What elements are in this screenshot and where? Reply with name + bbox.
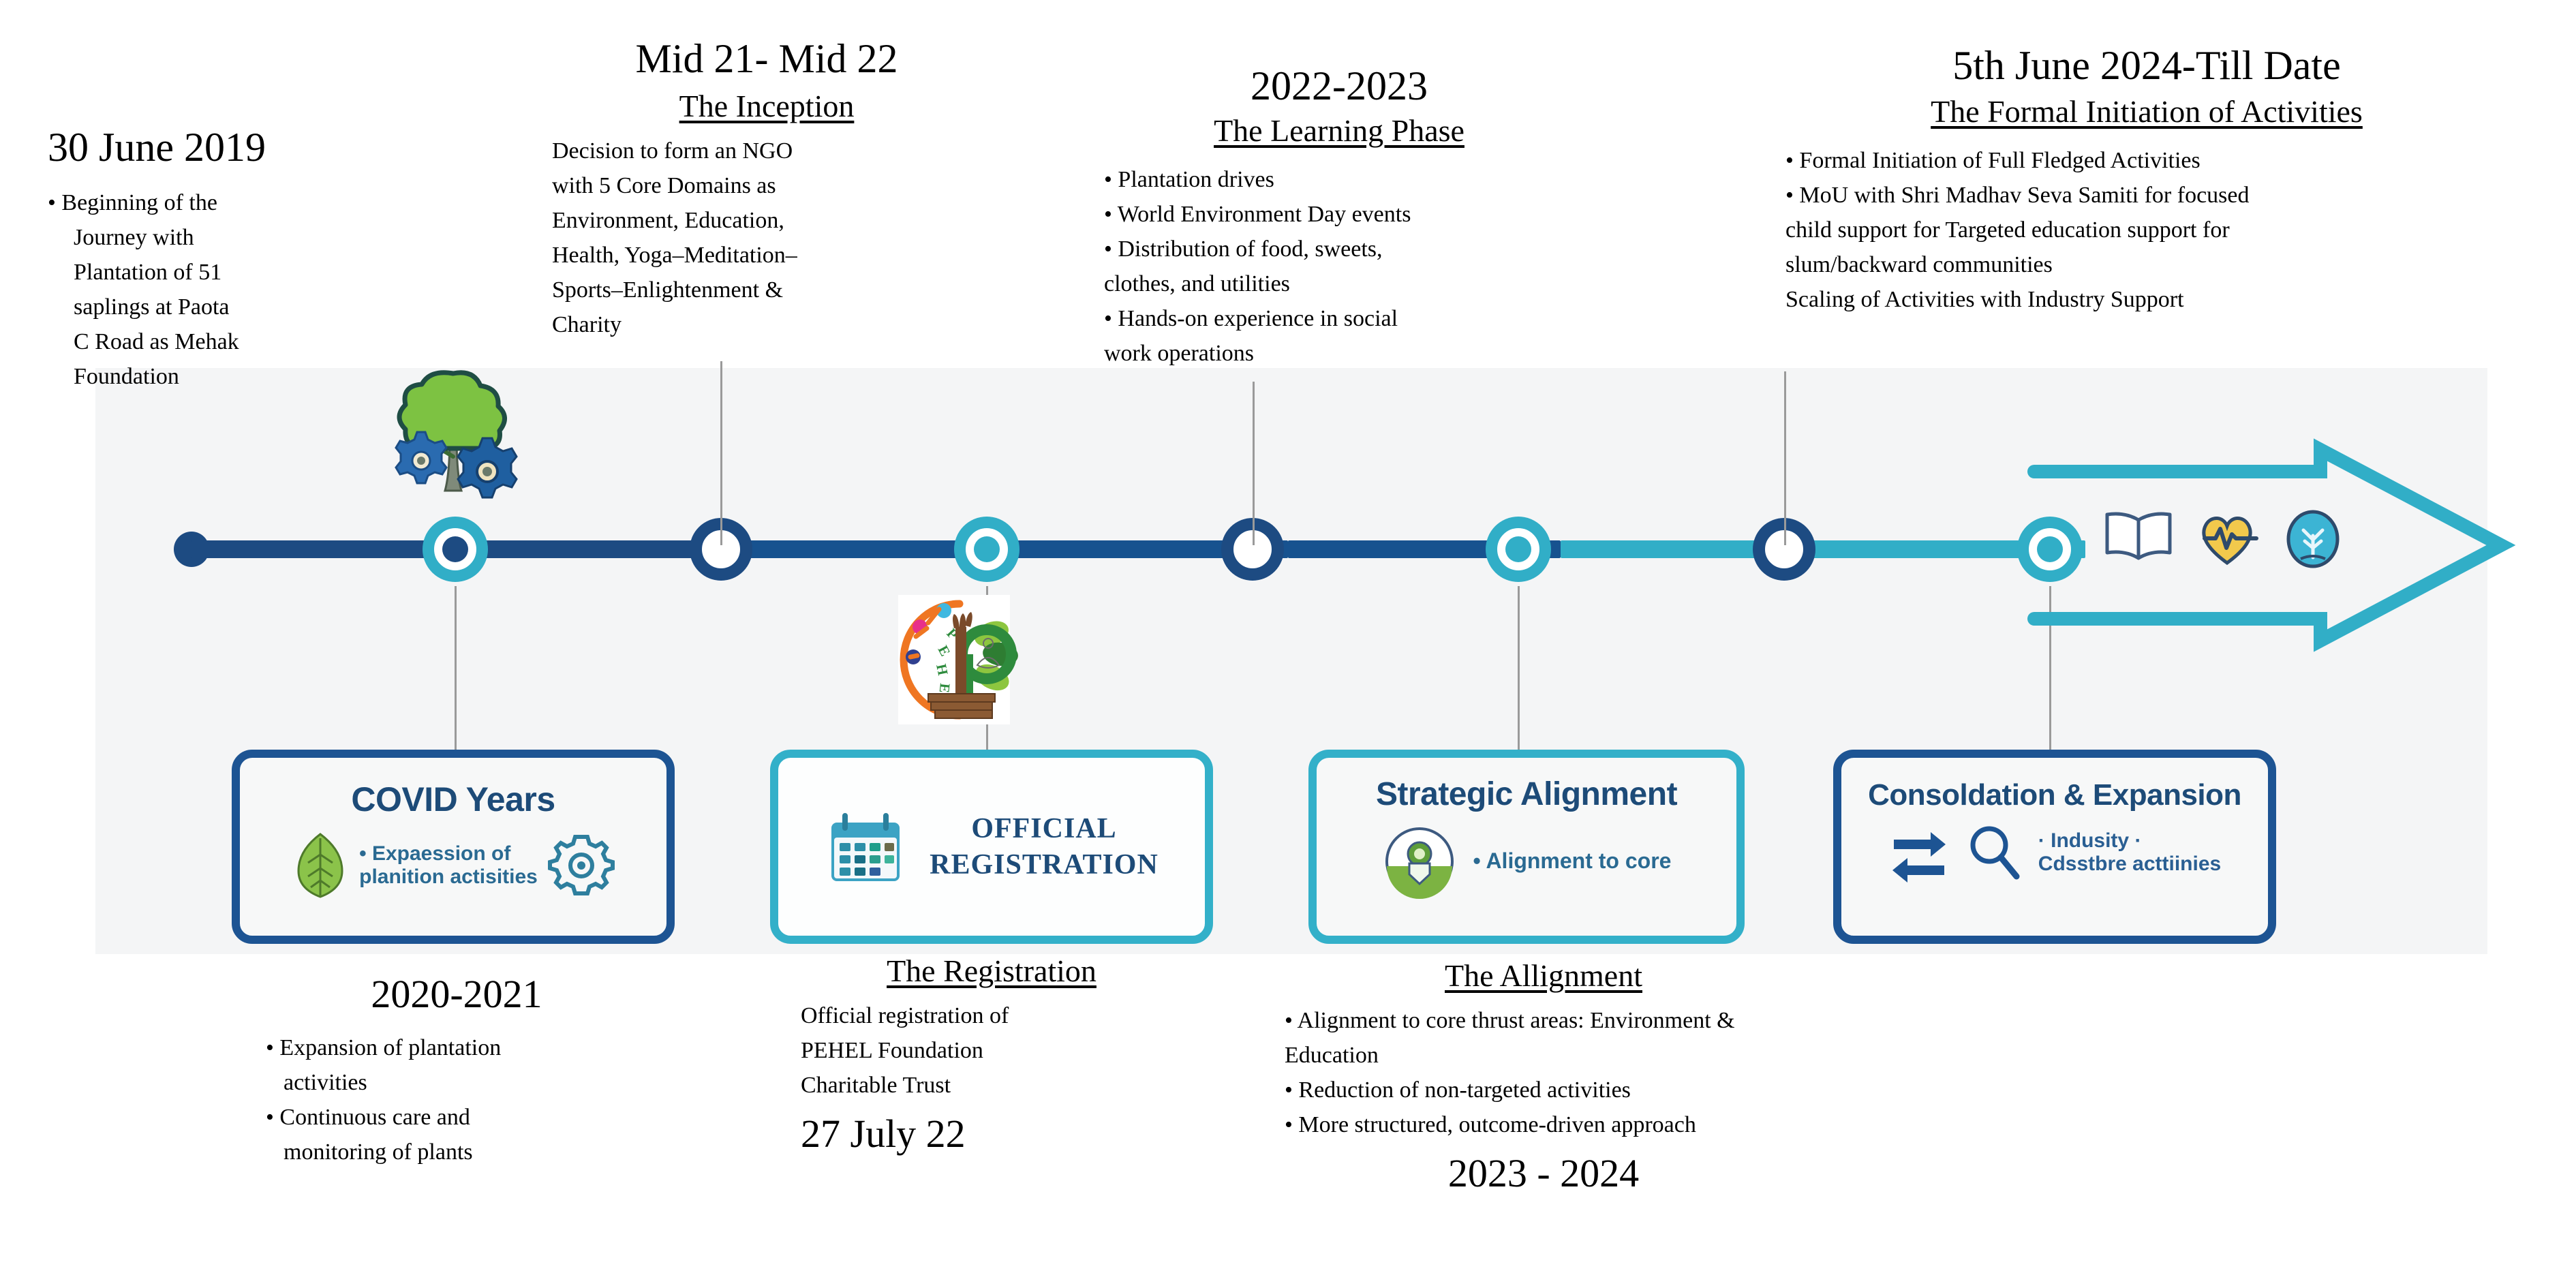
era-bullets-2019: • Beginning of the Journey with Plantati… <box>48 185 402 394</box>
card-note-covid: • Expaession of planition actisities <box>359 842 538 888</box>
era-heading-allignment: The Allignment <box>1285 957 1803 994</box>
era-bullets-formal: • Formal Initiation of Full Fledged Acti… <box>1785 143 2521 317</box>
era-year-allignment: 2023 - 2024 <box>1285 1150 1803 1196</box>
era-date-2019: 30 June 2019 <box>48 126 402 169</box>
gear-icon <box>550 834 613 897</box>
globe-tree-icon <box>2283 510 2343 568</box>
card-title-alignment: Strategic Alignment <box>1317 776 1736 813</box>
forward-arrow <box>2027 443 2508 647</box>
card-title-registration: OFFICIAL REGISTRATION <box>930 811 1159 883</box>
stem-down-covid <box>455 586 457 756</box>
card-title-consolidation: Consoldation & Expansion <box>1841 778 2268 812</box>
calendar-icon <box>825 806 906 888</box>
stem-up-inception <box>720 361 722 545</box>
svg-text:E: E <box>936 682 953 693</box>
card-consolidation-expansion[interactable]: Consoldation & Expansion · Indusity · Cd… <box>1833 750 2276 944</box>
era-year-2020-2021: 2020-2021 <box>232 971 681 1017</box>
era-date-formal: 5th June 2024-Till Date <box>1785 44 2508 87</box>
era-block-learning: 2022-2023 The Learning Phase • Plantatio… <box>1104 65 1595 371</box>
era-block-2019: 30 June 2019 • Beginning of the Journey … <box>48 126 402 394</box>
era-block-2020-2021: 2020-2021 • Expansion of plantation acti… <box>232 971 681 1169</box>
era-subtitle-formal: The Formal Initiation of Activities <box>1785 95 2508 128</box>
tree-gears-icon <box>368 354 538 511</box>
exchange-arrows-icon <box>1888 822 1950 883</box>
timeline-node-5[interactable] <box>1486 517 1551 582</box>
card-title-covid: COVID Years <box>240 780 666 819</box>
timeline-node-1[interactable] <box>423 517 488 582</box>
era-bullets-2020-2021: • Expansion of plantation activities • C… <box>232 1030 681 1169</box>
stem-up-formal <box>1784 371 1786 545</box>
pehel-foundation-logo: P E H E L <box>886 592 1022 728</box>
era-block-inception: Mid 21- Mid 22 The Inception Decision to… <box>552 37 981 342</box>
heart-pulse-icon <box>2198 510 2256 567</box>
era-year-registration: 27 July 22 <box>780 1111 1203 1156</box>
era-bullets-inception: Decision to form an NGO with 5 Core Doma… <box>552 134 981 342</box>
stem-down-alignment <box>1518 586 1520 756</box>
community-badge-icon <box>1382 824 1457 899</box>
leaf-icon <box>294 831 347 900</box>
card-note-consolidation: · Indusity · Cdsstbre acttiinies <box>2038 829 2221 875</box>
stem-up-learning <box>1253 382 1255 545</box>
era-block-allignment: The Allignment • Alignment to core thrus… <box>1285 957 2027 1196</box>
era-date-inception: Mid 21- Mid 22 <box>552 37 981 80</box>
card-covid-years[interactable]: COVID Years • Expaession of planition ac… <box>232 750 675 944</box>
era-block-registration: The Registration Official registration o… <box>780 953 1203 1156</box>
era-heading-registration: The Registration <box>780 953 1203 989</box>
magnifier-icon <box>1965 822 2023 883</box>
timeline-node-3[interactable] <box>954 517 1019 582</box>
card-strategic-alignment[interactable]: Strategic Alignment • Alignment to core <box>1308 750 1745 944</box>
timeline-infographic: 30 June 2019 • Beginning of the Journey … <box>0 0 2576 1288</box>
era-bullets-allignment: • Alignment to core thrust areas: Enviro… <box>1285 1003 2027 1142</box>
card-official-registration[interactable]: OFFICIAL REGISTRATION <box>770 750 1213 944</box>
era-bullets-registration: Official registration of PEHEL Foundatio… <box>780 998 1203 1103</box>
era-subtitle-learning: The Learning Phase <box>1104 114 1574 147</box>
era-block-formal: 5th June 2024-Till Date The Formal Initi… <box>1785 44 2521 317</box>
open-book-icon <box>2102 508 2175 568</box>
era-date-learning: 2022-2023 <box>1104 65 1574 108</box>
card-note-alignment: • Alignment to core <box>1473 849 1672 874</box>
era-bullets-learning: • Plantation drives • World Environment … <box>1104 162 1595 371</box>
era-subtitle-inception: The Inception <box>552 90 981 123</box>
